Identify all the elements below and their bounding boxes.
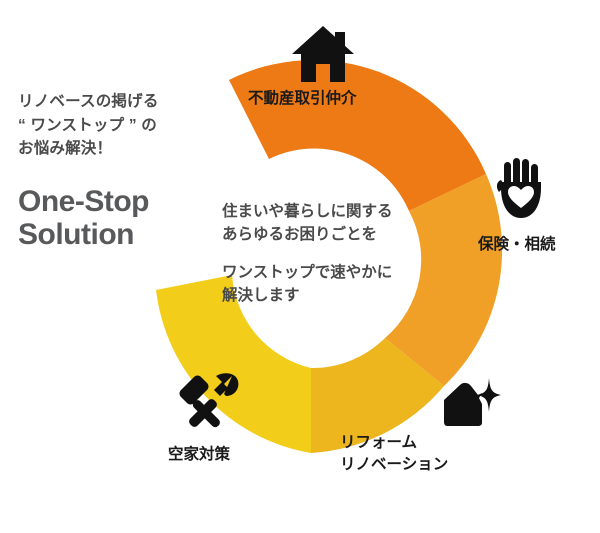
segment-label-real-estate: 不動産取引仲介 [248, 88, 357, 110]
lead-text: リノベースの掲げる “ ワンストップ ” の お悩み解決！ [18, 90, 218, 161]
center-paragraph-1: 住まいや暮らしに関する あらゆるお困りごとを [222, 200, 442, 247]
one-stop-solution-infographic: リノベースの掲げる “ ワンストップ ” の お悩み解決！ One-Stop S… [0, 0, 600, 533]
center-paragraph-2: ワンストップで速やかに 解決します [222, 261, 442, 308]
center-text-block: 住まいや暮らしに関する あらゆるお困りごとを ワンストップで速やかに 解決します [222, 200, 442, 307]
segment-label-vacant-house: 空家対策 [168, 444, 230, 466]
segment-label-reform-renovation: リフォーム リノベーション [340, 432, 448, 476]
house-icon [288, 24, 358, 91]
hammer-wrench-icon [178, 372, 240, 437]
house-sparkle-icon [438, 378, 502, 435]
segment-label-insurance-inheritance: 保険・相続 [478, 234, 556, 256]
hand-heart-icon [495, 158, 551, 227]
left-text-block: リノベースの掲げる “ ワンストップ ” の お悩み解決！ One-Stop S… [18, 90, 218, 252]
page-title: One-Stop Solution [18, 185, 218, 252]
